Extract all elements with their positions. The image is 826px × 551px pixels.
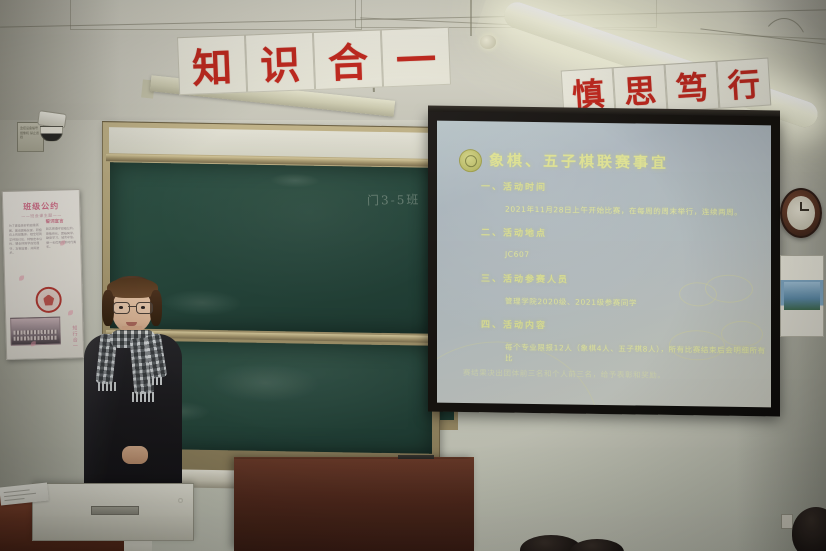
- slide-body-2: JC607: [505, 250, 530, 259]
- slide-body-3: 管理学院2020级、2021级参赛同学: [505, 296, 637, 309]
- banner-char: 笃: [664, 61, 719, 112]
- wall-clock: [780, 188, 822, 238]
- wall-socket: [781, 514, 793, 529]
- banner-char: 知: [177, 35, 247, 96]
- slide-title: 象棋、五子棋联赛事宜: [489, 149, 669, 173]
- poster-title: 班级公约: [11, 200, 71, 213]
- red-seal-icon: [35, 287, 62, 314]
- camera-label: 监控设备编号 摄像机 禁止遮挡: [20, 126, 41, 140]
- chalk-writing: 门3-5班: [366, 191, 420, 209]
- ceiling-bulb: [480, 35, 496, 49]
- console-indicator: [178, 498, 183, 503]
- clock-face: [787, 196, 815, 230]
- poster-body-right: 我志愿遵守班级公约，尊敬师长，团结同学，勤奋学习，诚实守信，做一名优秀的新时代青…: [46, 226, 77, 249]
- wall-banner-left: 知 识 合 一: [177, 27, 451, 95]
- banner-char: 识: [245, 32, 315, 93]
- slide-heading-3: 三、活动参赛人员: [481, 271, 569, 285]
- wooden-podium: [234, 459, 474, 551]
- poster-subtitle: ——班会课主题——: [3, 212, 79, 220]
- standing-presenter: [78, 276, 190, 501]
- presenter-hands: [122, 446, 148, 464]
- slide-heading-2: 二、活动地点: [481, 225, 547, 239]
- banner-char: 行: [716, 58, 771, 109]
- banner-char: 合: [313, 29, 383, 90]
- slide-heading-4: 四、活动内容: [481, 317, 547, 331]
- presenter-scarf: [98, 332, 168, 394]
- class-pact-poster: 班级公约 ——班会课主题—— 为了营造良好的班级氛围，建设团结友爱、积极向上的班…: [2, 189, 84, 360]
- classroom-photo: 知 识 合 一 慎 思 笃 行 监控设备编号 摄像机 禁止遮挡 班级公约 ——班…: [0, 0, 826, 551]
- slide-body-4: 每个专业限报12人（象棋4人、五子棋8人），所有比赛结束后会明细所有比: [505, 342, 771, 368]
- console-slot: [91, 506, 139, 515]
- projected-slide: 象棋、五子棋联赛事宜 一、活动时间 2021年11月28日上午开始比赛，在每周的…: [437, 121, 771, 408]
- av-equipment-console: [32, 483, 194, 541]
- right-wall-poster: [780, 255, 824, 337]
- slide-heading-1: 一、活动时间: [481, 179, 547, 193]
- ceiling-seam: [470, 0, 472, 36]
- slide-emblem-icon: [459, 149, 482, 172]
- slide-body-1: 2021年11月28日上午开始比赛，在每周的周末举行，连续两周。: [505, 204, 742, 218]
- projection-screen-frame: 象棋、五子棋联赛事宜 一、活动时间 2021年11月28日上午开始比赛，在每周的…: [428, 112, 780, 417]
- poster-body-left: 为了营造良好的班级氛围，建设团结友爱、积极向上的班集体，经全班同学共同讨论，特制…: [9, 223, 44, 255]
- banner-char: 一: [381, 27, 451, 88]
- poster-section-heading: 誓词宣言: [46, 218, 64, 224]
